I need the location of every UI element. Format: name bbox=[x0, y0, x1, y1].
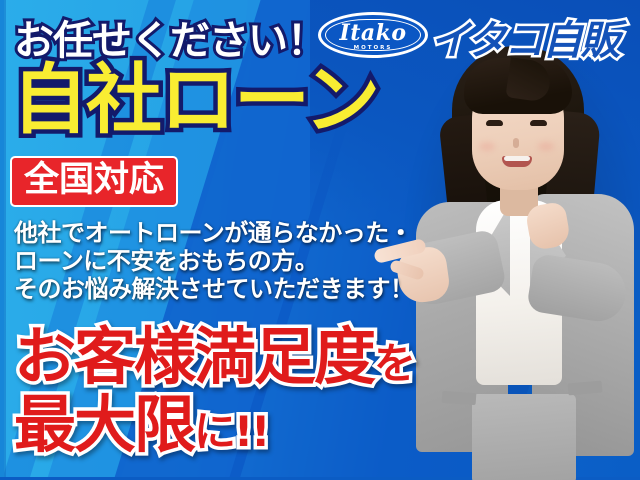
headline-main: 自社ローン bbox=[12, 62, 378, 138]
body-copy-line-2: ローンに不安をおもちの方。 bbox=[14, 248, 414, 276]
nationwide-badge: 全国対応 bbox=[10, 156, 178, 207]
logo-subtitle-text: MOTORS bbox=[354, 45, 393, 51]
cheek-right bbox=[538, 142, 554, 151]
nose bbox=[513, 138, 519, 148]
closing-headline-line-2-tail: に!! bbox=[194, 407, 268, 456]
skirt bbox=[472, 394, 576, 480]
closing-headline-line-1-main: お客様満足度 bbox=[14, 320, 374, 393]
closing-headline-line-2-main: 最大限 bbox=[14, 388, 194, 461]
closing-headline-line-2: 最大限に!! bbox=[14, 394, 268, 456]
teeth bbox=[504, 156, 530, 161]
banner-canvas: お任せください！ Itako MOTORS イタコ自販 自社ローン 全国対応 他… bbox=[0, 0, 640, 480]
body-copy-line-3: そのお悩み解決させていただきます！ bbox=[14, 276, 414, 304]
closing-headline-line-1: お客様満足度を bbox=[14, 326, 414, 388]
nationwide-badge-label: 全国対応 bbox=[24, 163, 164, 198]
jacket-pocket-left bbox=[442, 391, 477, 405]
closing-headline-line-1-tail: を bbox=[374, 339, 414, 388]
businesswoman-figure bbox=[380, 42, 640, 480]
itako-motors-logo: Itako MOTORS bbox=[318, 12, 428, 58]
body-copy: 他社でオートローンが通らなかった・ ローンに不安をおもちの方。 そのお悩み解決さ… bbox=[14, 220, 414, 303]
cheek-left bbox=[479, 142, 495, 151]
body-copy-line-1: 他社でオートローンが通らなかった・ bbox=[14, 220, 414, 248]
logo-script-text: Itako bbox=[339, 22, 406, 44]
eye-right bbox=[530, 120, 547, 126]
left-edge-strip-inner bbox=[4, 0, 6, 480]
mouth bbox=[502, 156, 532, 167]
brand-wordmark: イタコ自販 bbox=[430, 8, 618, 66]
eye-left bbox=[486, 120, 503, 126]
